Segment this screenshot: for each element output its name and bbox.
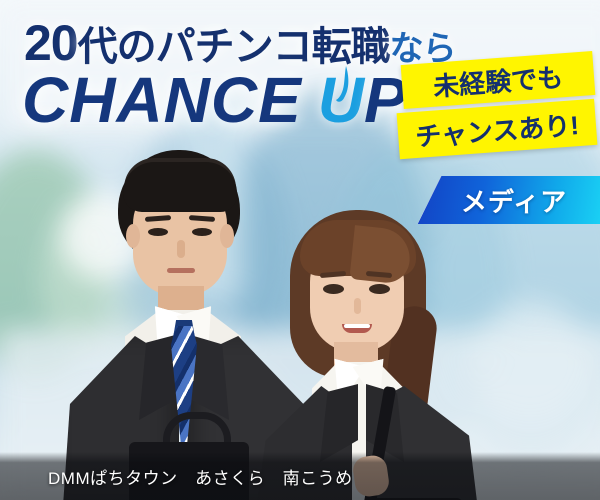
headline: 20代のパチンコ転職なら: [24, 18, 456, 68]
category-label-media: メディア: [451, 182, 567, 219]
category-button-list: メーカー ホール 開発会社 代理店 メディア: [418, 176, 600, 488]
logo-word-chance: CHANCE: [22, 64, 302, 136]
badge-bar-line2: チャンスあり!: [397, 99, 598, 159]
recruitment-banner: 20代のパチンコ転職なら CHANCEUP 未経験でも チャンスあり! メーカー…: [0, 0, 600, 500]
headline-main: 代のパチンコ転職: [78, 25, 390, 69]
headline-number: 20: [24, 15, 78, 71]
category-button-media[interactable]: メディア: [418, 176, 600, 224]
badge-line1-text: 未経験でも: [432, 57, 564, 103]
experience-badge: 未経験でも チャンスあり!: [398, 52, 598, 164]
logo-letter-u: U: [318, 64, 364, 136]
badge-line2-text: チャンスあり!: [414, 105, 580, 154]
credit-strip: DMMぱちタウン あさくら 南こうめ: [0, 452, 600, 500]
credit-text: DMMぱちタウン あさくら 南こうめ: [48, 464, 353, 489]
chance-up-logo: CHANCEUP: [22, 68, 407, 148]
logo-word-up: UP: [318, 68, 407, 132]
